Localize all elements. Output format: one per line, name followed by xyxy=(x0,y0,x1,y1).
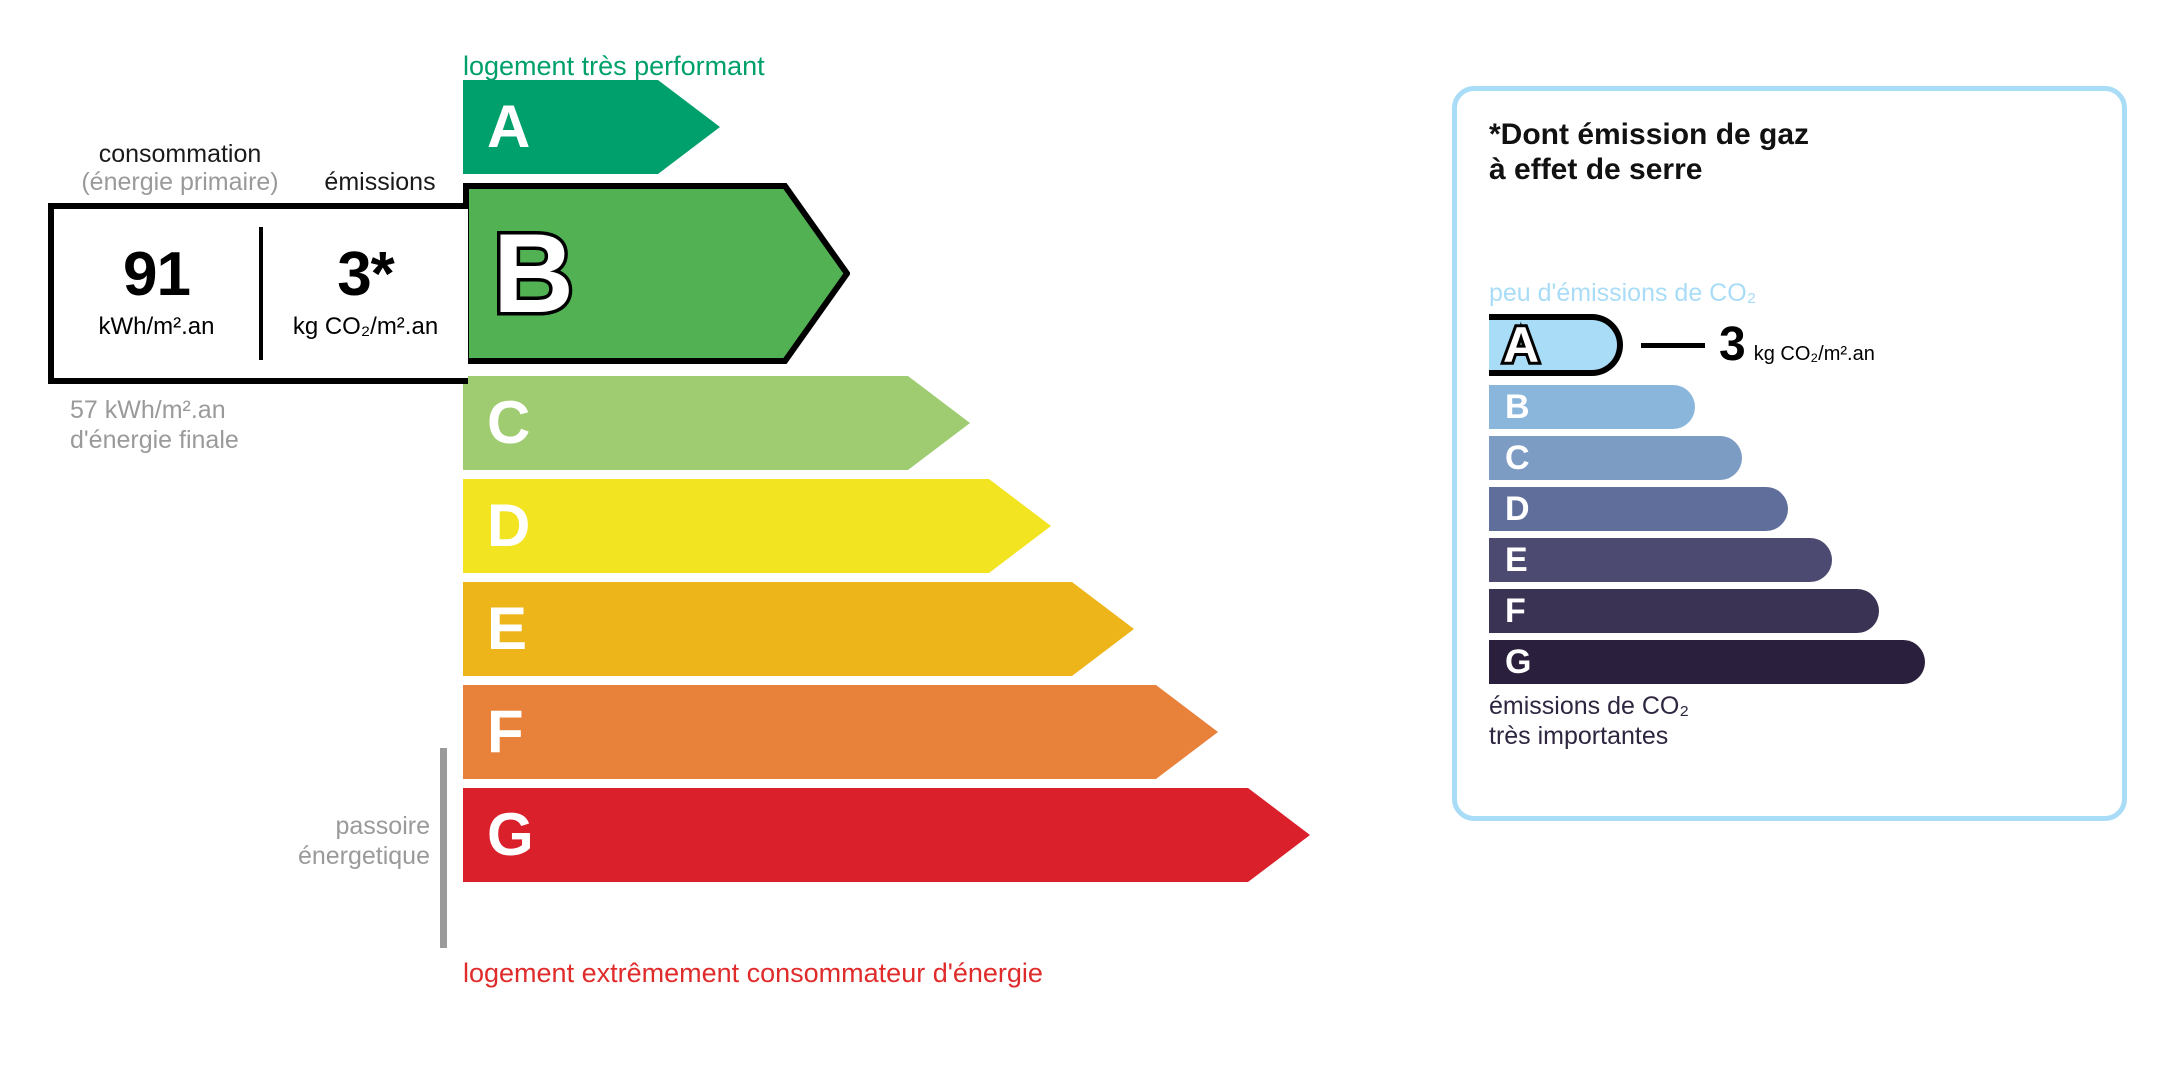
ghg-top-caption: peu d'émissions de CO₂ xyxy=(1489,281,1756,306)
ghg-class-row-g: G xyxy=(1489,640,1925,684)
consumption-value: 91 xyxy=(123,246,190,305)
ghg-class-bars: A3kg CO₂/m².anBCDEFG xyxy=(1489,314,1925,691)
final-energy-label: d'énergie finale xyxy=(70,426,239,456)
emissions-header-label: émissions xyxy=(300,168,460,196)
ghg-bottom-line-1: émissions de CO₂ xyxy=(1489,691,1689,721)
consumption-header-label: consommation xyxy=(99,140,262,168)
final-energy-value: 57 kWh/m².an xyxy=(70,396,239,426)
ghg-class-row-e: E xyxy=(1489,538,1925,582)
ghg-bar-g: G xyxy=(1489,640,1925,684)
ghg-bottom-caption: émissions de CO₂ très importantes xyxy=(1489,691,1689,751)
ghg-class-row-c: C xyxy=(1489,436,1925,480)
ghg-class-row-a: A3kg CO₂/m².an xyxy=(1489,314,1925,376)
energy-bottom-caption: logement extrêmement consommateur d'éner… xyxy=(463,960,1043,987)
ghg-class-letter-f: F xyxy=(1505,594,1526,628)
arrow-shape-f xyxy=(463,685,1218,779)
arrow-shape-g xyxy=(463,788,1310,882)
ghg-bottom-line-2: très importantes xyxy=(1489,721,1689,751)
consumption-header-sublabel: (énergie primaire) xyxy=(60,168,300,196)
energy-class-letter-a: A xyxy=(487,97,530,157)
energy-class-row-f: F xyxy=(463,685,1218,779)
arrow-shape-e xyxy=(463,582,1134,676)
energy-class-row-g: G xyxy=(463,788,1310,882)
ghg-value-group: 3kg CO₂/m².an xyxy=(1719,321,1875,369)
ghg-panel-title: *Dont émission de gaz à effet de serre xyxy=(1489,117,1809,188)
ghg-value-unit: kg CO₂/m².an xyxy=(1754,343,1875,366)
passoire-line-1: passoire xyxy=(270,812,430,842)
energy-class-row-e: E xyxy=(463,582,1134,676)
arrow-body-b: B xyxy=(463,183,850,364)
ghg-class-letter-c: C xyxy=(1505,441,1530,475)
final-energy-note: 57 kWh/m².an d'énergie finale xyxy=(70,396,239,455)
energy-class-arrows: ABCDEFG xyxy=(463,80,1310,891)
arrow-body-f: F xyxy=(463,685,1218,779)
arrow-body-g: G xyxy=(463,788,1310,882)
energy-performance-chart: logement très performant consommation (é… xyxy=(0,0,1340,1079)
ghg-value: 3 xyxy=(1719,321,1746,369)
ghg-title-line-2: à effet de serre xyxy=(1489,152,1809,187)
emission-value: 3* xyxy=(337,246,394,305)
energy-top-caption: logement très performant xyxy=(463,53,765,80)
consumption-header: consommation (énergie primaire) xyxy=(60,140,300,196)
ghg-class-letter-e: E xyxy=(1505,543,1528,577)
ghg-class-letter-d: D xyxy=(1505,492,1530,526)
arrow-shape-c xyxy=(463,376,970,470)
energy-class-letter-e: E xyxy=(487,599,527,659)
energy-class-row-a: A xyxy=(463,80,720,174)
ghg-emissions-panel: *Dont émission de gaz à effet de serre p… xyxy=(1452,86,2127,821)
ghg-leader-line xyxy=(1641,343,1705,348)
arrow-body-a: A xyxy=(463,80,720,174)
ghg-bar-d: D xyxy=(1489,487,1788,531)
emission-value-cell: 3* kg CO₂/m².an xyxy=(263,209,468,378)
energy-class-row-c: C xyxy=(463,376,970,470)
energy-class-letter-c: C xyxy=(487,393,530,453)
consumption-unit: kWh/m².an xyxy=(98,313,214,341)
arrow-shape-d xyxy=(463,479,1051,573)
energy-class-letter-b: B xyxy=(493,218,574,330)
ghg-class-letter-b: B xyxy=(1505,390,1530,424)
arrow-body-d: D xyxy=(463,479,1051,573)
consumption-value-cell: 91 kWh/m².an xyxy=(54,227,263,360)
ghg-class-letter-a: A xyxy=(1503,320,1539,370)
ghg-title-line-1: *Dont émission de gaz xyxy=(1489,117,1809,152)
ghg-class-row-d: D xyxy=(1489,487,1925,531)
ghg-bar-f: F xyxy=(1489,589,1879,633)
ghg-bar-e: E xyxy=(1489,538,1832,582)
value-box: 91 kWh/m².an 3* kg CO₂/m².an xyxy=(48,203,468,384)
ghg-class-row-f: F xyxy=(1489,589,1925,633)
energy-class-row-d: D xyxy=(463,479,1051,573)
emission-unit: kg CO₂/m².an xyxy=(293,313,438,341)
ghg-class-letter-g: G xyxy=(1505,645,1531,679)
passoire-bracket xyxy=(440,748,447,948)
ghg-bar-a: A xyxy=(1489,314,1623,376)
passoire-energetique-label: passoire énergetique xyxy=(270,812,430,871)
energy-class-row-b: B xyxy=(463,183,850,364)
energy-class-letter-g: G xyxy=(487,805,534,865)
passoire-line-2: énergetique xyxy=(270,842,430,872)
ghg-bar-b: B xyxy=(1489,385,1695,429)
energy-class-letter-f: F xyxy=(487,702,524,762)
ghg-class-row-b: B xyxy=(1489,385,1925,429)
ghg-bar-c: C xyxy=(1489,436,1742,480)
arrow-body-c: C xyxy=(463,376,970,470)
energy-class-letter-d: D xyxy=(487,496,530,556)
arrow-body-e: E xyxy=(463,582,1134,676)
